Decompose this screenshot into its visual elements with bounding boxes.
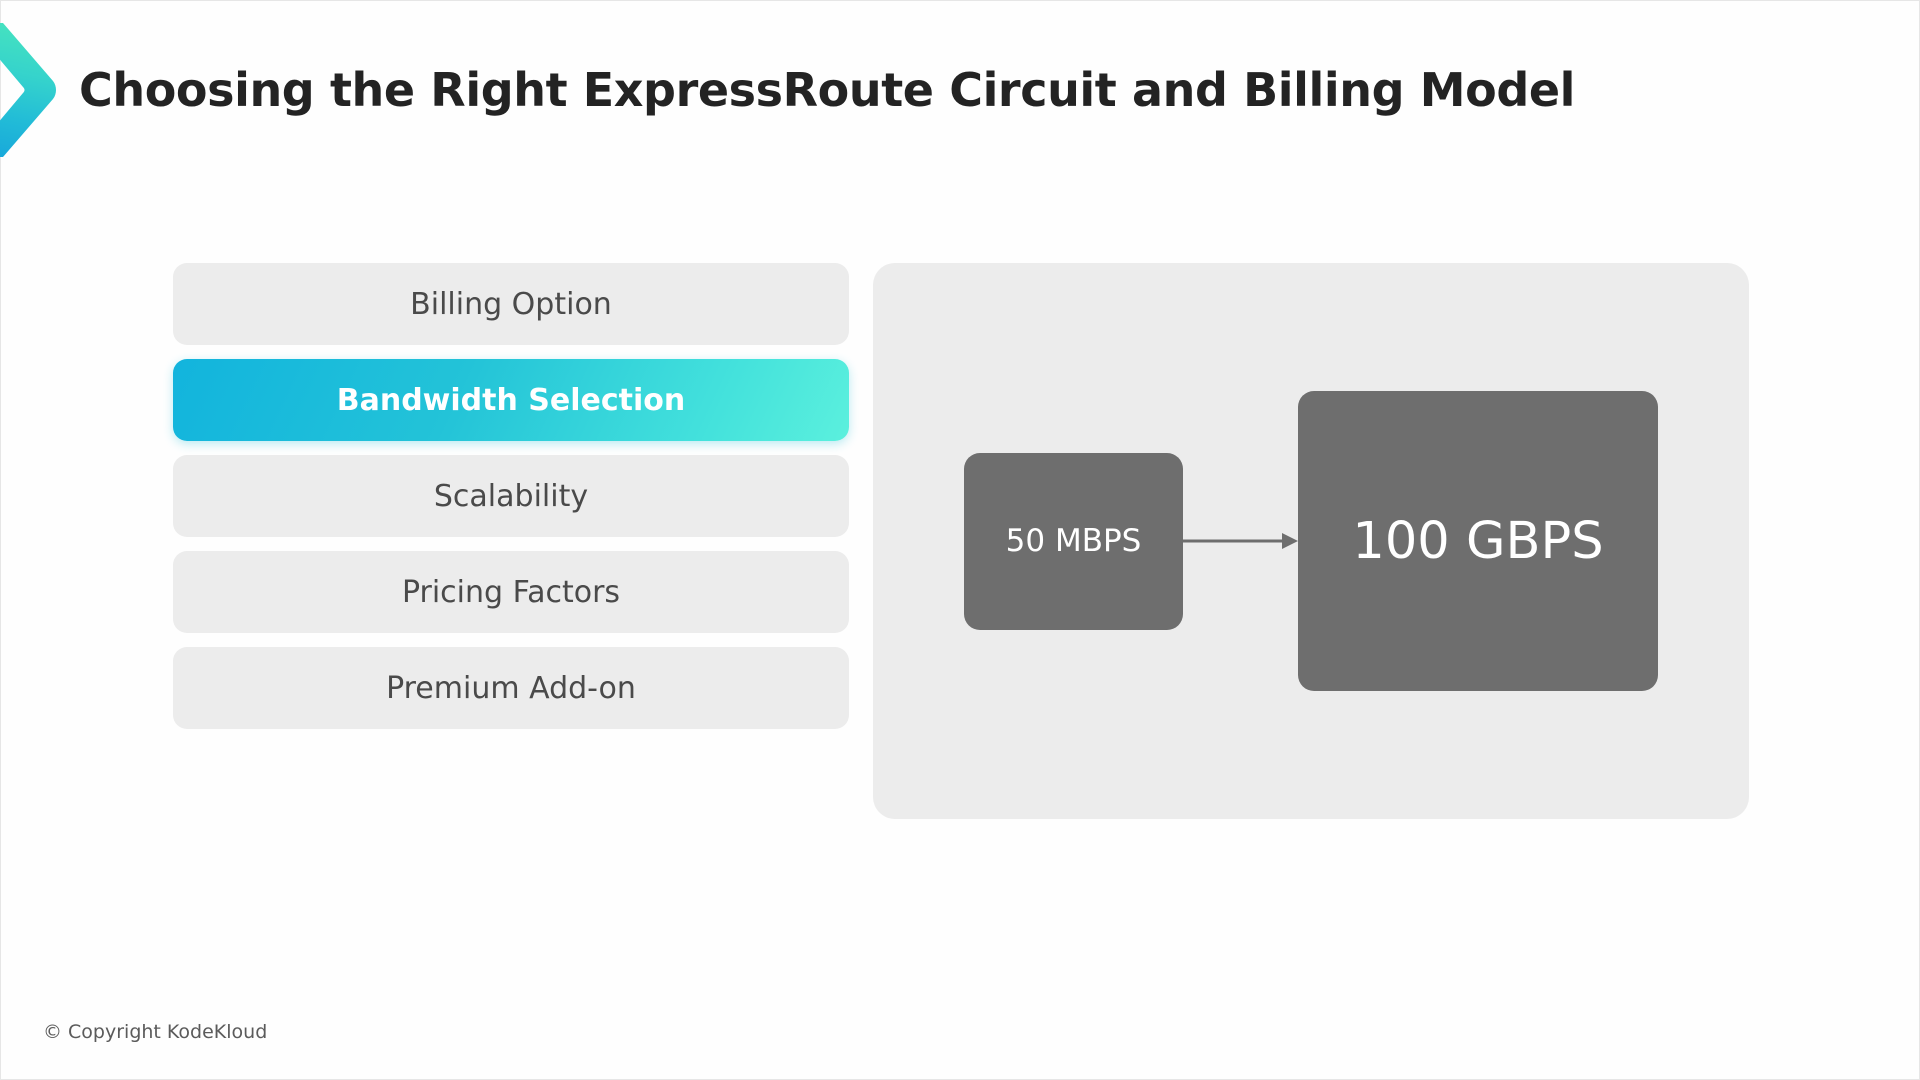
- nav-item-scalability[interactable]: Scalability: [173, 455, 849, 537]
- nav-item-premium-add-on[interactable]: Premium Add-on: [173, 647, 849, 729]
- flow-node-label: 50 MBPS: [1006, 523, 1142, 559]
- nav-item-label: Pricing Factors: [402, 575, 620, 610]
- arrow-right-icon: [1183, 529, 1298, 553]
- page-title: Choosing the Right ExpressRoute Circuit …: [79, 63, 1575, 117]
- flow-node-label: 100 GBPS: [1352, 512, 1603, 571]
- nav-item-pricing-factors[interactable]: Pricing Factors: [173, 551, 849, 633]
- flow-node-max-bandwidth: 100 GBPS: [1298, 391, 1658, 691]
- topic-nav-list: Billing Option Bandwidth Selection Scala…: [173, 263, 849, 729]
- nav-item-label: Billing Option: [410, 287, 612, 322]
- nav-item-label: Premium Add-on: [386, 671, 636, 706]
- flow-node-min-bandwidth: 50 MBPS: [964, 453, 1183, 630]
- footer-copyright: © Copyright KodeKloud: [43, 1021, 267, 1043]
- nav-item-bandwidth-selection[interactable]: Bandwidth Selection: [173, 359, 849, 441]
- slide-canvas: Choosing the Right ExpressRoute Circuit …: [0, 0, 1920, 1080]
- bandwidth-flow-diagram: 50 MBPS 100 GBPS: [873, 263, 1749, 819]
- nav-item-billing-option[interactable]: Billing Option: [173, 263, 849, 345]
- kodekloud-chevron-logo-icon: [0, 19, 61, 161]
- nav-item-label: Scalability: [434, 479, 588, 514]
- content-panel: 50 MBPS 100 GBPS: [873, 263, 1749, 819]
- nav-item-label: Bandwidth Selection: [337, 383, 686, 418]
